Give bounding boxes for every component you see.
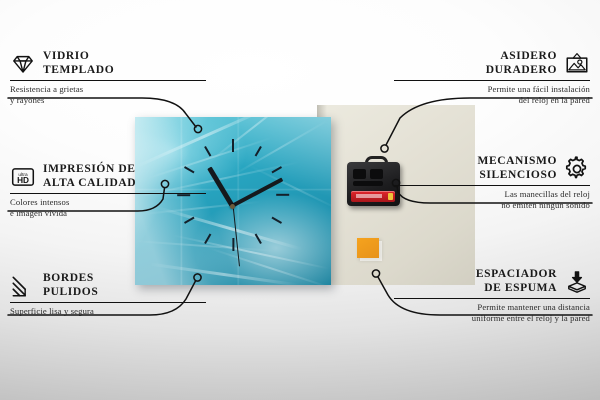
feature-title-line1: MECANISMO [477, 155, 557, 169]
clock-tick [232, 139, 234, 152]
mechanism-detail [353, 169, 366, 179]
foam-spacer-icon [564, 269, 590, 295]
feature-title-line1: IMPRESIÓN DE [43, 163, 136, 177]
feature-title-line1: BORDES [43, 272, 98, 286]
clock-center-pin [230, 204, 235, 209]
clock-tick [232, 238, 234, 251]
svg-text:HD: HD [17, 176, 29, 185]
feature-heading: VIDRIO TEMPLADO [10, 50, 206, 77]
feature-divider [10, 80, 206, 81]
feature-divider [394, 80, 590, 81]
picture-hanger-icon [564, 51, 590, 77]
feature-title: ASIDERO DURADERO [486, 50, 557, 77]
feature-impresion-alta-calidad: ultra HD IMPRESIÓN DE ALTA CALIDAD Color… [10, 163, 206, 218]
polished-edges-icon [10, 273, 36, 299]
mechanism-battery [351, 191, 395, 202]
feature-title-line2: TEMPLADO [43, 64, 114, 78]
feature-title: VIDRIO TEMPLADO [43, 50, 114, 77]
feature-heading: BORDES PULIDOS [10, 272, 206, 299]
infographic-canvas: VIDRIO TEMPLADO Resistencia a grietas y … [0, 0, 600, 400]
ultra-hd-icon: ultra HD [10, 164, 36, 190]
feature-heading: ESPACIADOR DE ESPUMA [394, 268, 590, 295]
feature-title: ESPACIADOR DE ESPUMA [476, 268, 557, 295]
feature-title-line2: ALTA CALIDAD [43, 177, 136, 191]
feature-title-line2: DE ESPUMA [476, 282, 557, 296]
feature-description: Las manecillas del reloj no emiten ningú… [394, 189, 590, 210]
feature-bordes-pulidos: BORDES PULIDOS Superficie lisa y segura [10, 272, 206, 317]
feature-mecanismo-silencioso: MECANISMO SILENCIOSO Las manecillas del … [394, 155, 590, 210]
clock-mechanism [347, 162, 400, 206]
diamond-icon [10, 51, 36, 77]
feature-description: Permite mantener una distancia uniforme … [394, 302, 590, 323]
feature-vidrio-templado: VIDRIO TEMPLADO Resistencia a grietas y … [10, 50, 206, 105]
feature-title-line1: ESPACIADOR [476, 268, 557, 282]
foam-spacer-product [357, 238, 379, 258]
feature-asidero-duradero: ASIDERO DURADERO Permite una fácil insta… [394, 50, 590, 105]
feature-divider [10, 302, 206, 303]
feature-description: Colores intensos e imagen vívida [10, 197, 206, 218]
feature-heading: ASIDERO DURADERO [394, 50, 590, 77]
feature-description: Permite una fácil instalación del reloj … [394, 84, 590, 105]
feature-divider [10, 193, 206, 194]
mechanism-body [347, 162, 400, 206]
mechanism-detail [370, 169, 383, 179]
feature-heading: MECANISMO SILENCIOSO [394, 155, 590, 182]
battery-label [356, 194, 382, 198]
mechanism-detail [353, 181, 383, 186]
feature-title-line1: ASIDERO [486, 50, 557, 64]
feature-title: BORDES PULIDOS [43, 272, 98, 299]
feature-title-line2: SILENCIOSO [477, 169, 557, 183]
feature-divider [394, 185, 590, 186]
feature-description: Superficie lisa y segura [10, 306, 206, 317]
feature-heading: ultra HD IMPRESIÓN DE ALTA CALIDAD [10, 163, 206, 190]
feature-title-line1: VIDRIO [43, 50, 114, 64]
feature-espaciador-de-espuma: ESPACIADOR DE ESPUMA Permite mantener un… [394, 268, 590, 323]
feature-divider [394, 298, 590, 299]
clock-tick [276, 194, 289, 196]
feature-title: IMPRESIÓN DE ALTA CALIDAD [43, 163, 136, 190]
battery-terminal [388, 193, 393, 200]
feature-title: MECANISMO SILENCIOSO [477, 155, 557, 182]
feature-title-line2: DURADERO [486, 64, 557, 78]
feature-title-line2: PULIDOS [43, 286, 98, 300]
feature-description: Resistencia a grietas y rayones [10, 84, 206, 105]
gear-icon [564, 156, 590, 182]
